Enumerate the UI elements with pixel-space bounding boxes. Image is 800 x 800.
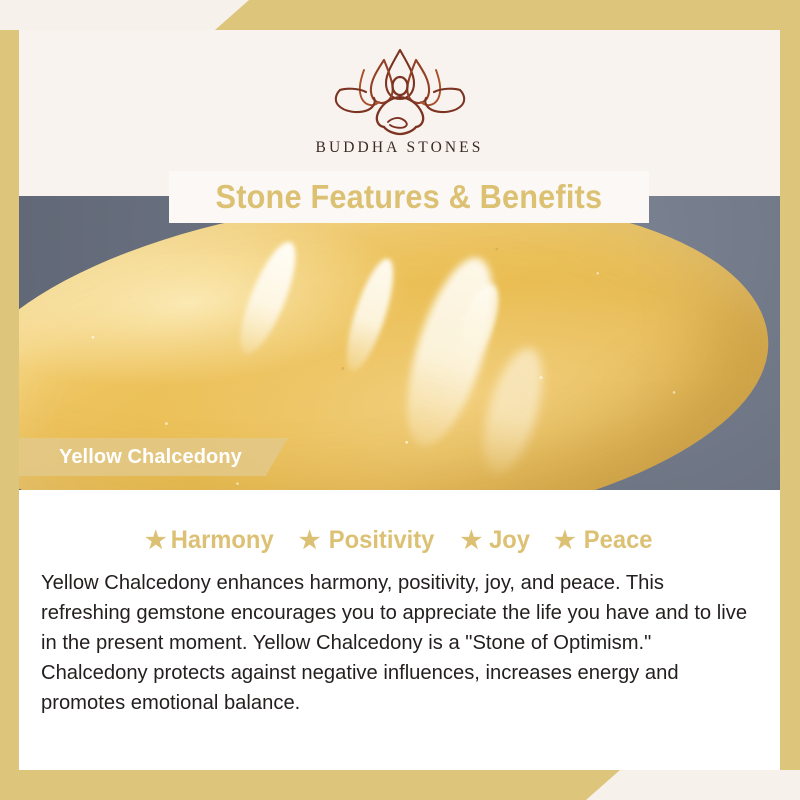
star-icon: ★ [299, 529, 321, 553]
keyword-list: ★ Harmony ★ Positivity ★ Joy ★ Peace [19, 526, 780, 555]
keyword-label: Harmony [170, 526, 273, 555]
keyword-label: Positivity [329, 526, 435, 555]
gold-left-decoration [0, 30, 19, 770]
keyword-item: ★ Harmony [145, 526, 276, 555]
brand-name: BUDDHA STONES [316, 139, 484, 157]
stone-name-text: Yellow Chalcedony [59, 446, 242, 469]
star-icon: ★ [554, 529, 576, 553]
lotus-meditation-icon [314, 44, 486, 136]
brand-logo: BUDDHA STONES [314, 44, 486, 157]
gold-top-decoration [215, 0, 800, 30]
keyword-item: ★ Positivity [299, 526, 438, 555]
stone-name-label: Yellow Chalcedony [19, 438, 288, 476]
page-title: Stone Features & Benefits [216, 178, 603, 216]
star-icon: ★ [145, 529, 167, 553]
star-icon: ★ [461, 529, 483, 553]
keyword-item: ★ Peace [554, 526, 654, 555]
stone-photo: Yellow Chalcedony [19, 196, 780, 490]
infographic-card: BUDDHA STONES Yellow Chalcedony ★ Harmon… [19, 30, 780, 770]
gold-bottom-decoration [0, 770, 620, 800]
content-section: ★ Harmony ★ Positivity ★ Joy ★ Peace Yel… [19, 490, 780, 770]
section-title-banner: Stone Features & Benefits [169, 171, 649, 223]
gold-right-decoration [780, 30, 800, 770]
keyword-label: Peace [583, 526, 652, 555]
keyword-item: ★ Joy [461, 526, 532, 555]
keyword-label: Joy [489, 526, 530, 555]
description-text: Yellow Chalcedony enhances harmony, posi… [41, 568, 751, 718]
